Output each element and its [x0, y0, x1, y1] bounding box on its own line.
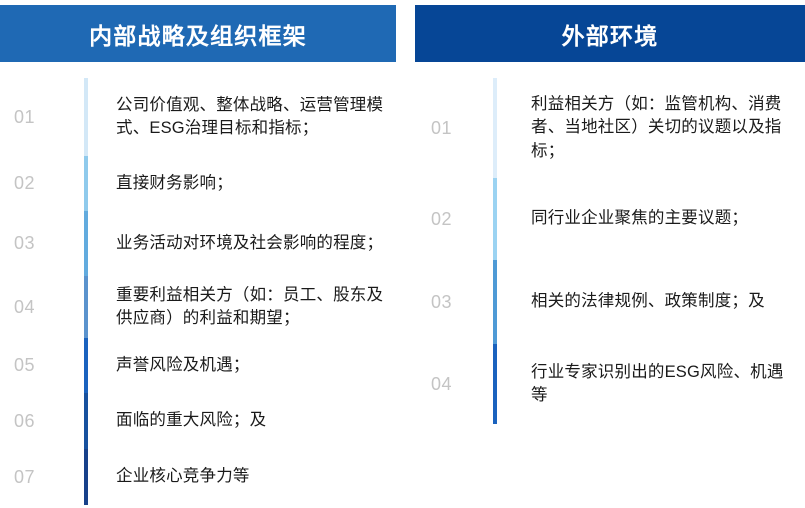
column-header-internal: 内部战略及组织框架: [0, 5, 396, 62]
list-item-label: 同行业企业聚焦的主要议题；: [497, 207, 805, 230]
column-header-external: 外部环境: [415, 5, 805, 62]
list-item-number: 01: [0, 107, 62, 128]
list-item[interactable]: 05 声誉风险及机遇；: [0, 338, 396, 393]
list-item-label: 企业核心竞争力等: [88, 465, 396, 488]
list-item-label: 公司价值观、整体战略、运营管理模式、ESG治理目标和指标；: [88, 94, 396, 141]
list-item-label: 业务活动对环境及社会影响的程度；: [88, 232, 396, 255]
list-item[interactable]: 02 同行业企业聚焦的主要议题；: [415, 178, 805, 260]
item-list-internal: 01 公司价值观、整体战略、运营管理模式、ESG治理目标和指标； 02 直接财务…: [0, 78, 396, 505]
item-list-external: 01 利益相关方（如：监管机构、消费者、当地社区）关切的议题以及指标； 02 同…: [415, 78, 805, 424]
list-item-label: 直接财务影响；: [88, 172, 396, 195]
list-item[interactable]: 07 企业核心竞争力等: [0, 449, 396, 505]
list-item[interactable]: 01 利益相关方（如：监管机构、消费者、当地社区）关切的议题以及指标；: [415, 78, 805, 178]
list-item-number: 04: [415, 374, 483, 395]
list-item-number: 03: [415, 292, 483, 313]
list-item-label: 行业专家识别出的ESG风险、机遇等: [497, 361, 805, 408]
list-item-label: 声誉风险及机遇；: [88, 354, 396, 377]
list-item[interactable]: 06 面临的重大风险；及: [0, 393, 396, 449]
list-item-number: 01: [415, 118, 483, 139]
list-item[interactable]: 03 业务活动对环境及社会影响的程度；: [0, 211, 396, 276]
list-item-number: 02: [0, 173, 62, 194]
list-item-label: 面临的重大风险；及: [88, 409, 396, 432]
list-item[interactable]: 04 重要利益相关方（如：员工、股东及供应商）的利益和期望；: [0, 276, 396, 338]
list-item[interactable]: 03 相关的法律规例、政策制度；及: [415, 260, 805, 344]
list-item-label: 利益相关方（如：监管机构、消费者、当地社区）关切的议题以及指标；: [497, 93, 805, 163]
list-item-number: 06: [0, 411, 62, 432]
list-item[interactable]: 02 直接财务影响；: [0, 156, 396, 211]
list-item-number: 07: [0, 467, 62, 488]
list-item-number: 02: [415, 209, 483, 230]
list-item-number: 05: [0, 355, 62, 376]
column-header-external-title: 外部环境: [562, 17, 659, 51]
list-item-number: 03: [0, 233, 62, 254]
list-item[interactable]: 04 行业专家识别出的ESG风险、机遇等: [415, 344, 805, 424]
list-item-label: 重要利益相关方（如：员工、股东及供应商）的利益和期望；: [88, 284, 396, 331]
slide-root: 内部战略及组织框架 01 公司价值观、整体战略、运营管理模式、ESG治理目标和指…: [0, 0, 805, 508]
list-item[interactable]: 01 公司价值观、整体战略、运营管理模式、ESG治理目标和指标；: [0, 78, 396, 156]
list-item-label: 相关的法律规例、政策制度；及: [497, 290, 805, 313]
list-item-number: 04: [0, 297, 62, 318]
column-header-internal-title: 内部战略及组织框架: [89, 17, 307, 51]
